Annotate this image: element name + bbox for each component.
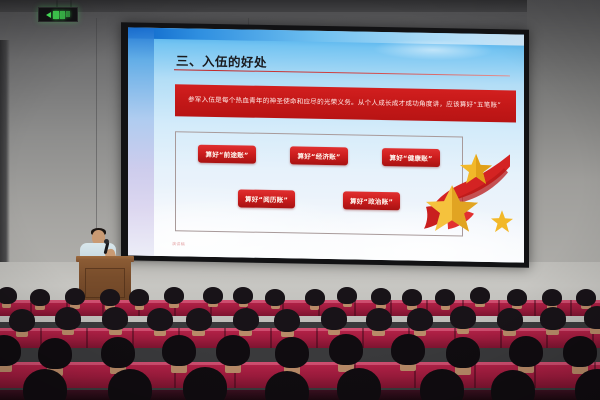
audience-head <box>233 287 253 304</box>
screen-glare <box>374 39 493 62</box>
title-underline <box>174 69 510 76</box>
exit-glyph-icon <box>66 11 70 17</box>
audience-head <box>470 287 490 304</box>
audience-head <box>101 337 135 368</box>
audience-head <box>233 308 259 331</box>
audience-head <box>147 308 173 331</box>
projection-screen: 三、入伍的好处 参军入伍是每个热血青年的神圣使命和应尽的光荣义务。从个人成长成才… <box>128 27 524 262</box>
audience-head <box>203 287 223 304</box>
audience-head <box>542 289 562 306</box>
chip-item: 算好“政治账” <box>343 191 400 210</box>
seat-divider <box>270 328 272 348</box>
chip-item: 算好“前途账” <box>198 145 255 164</box>
audience-head <box>446 337 480 368</box>
audience-head <box>321 307 347 330</box>
audience-head <box>366 308 392 331</box>
left-arrow-icon <box>46 12 51 18</box>
right-wall-panel <box>527 0 600 300</box>
audience-head <box>275 337 309 368</box>
audience-head <box>55 307 81 330</box>
audience-head <box>38 338 72 369</box>
audience-head <box>435 289 455 306</box>
audience-head <box>497 308 523 331</box>
audience-head <box>540 307 566 330</box>
audience-head <box>0 287 17 304</box>
red-ribbon-gold-stars-icon <box>414 147 518 241</box>
audience-head <box>584 306 600 329</box>
audience-head <box>164 287 184 304</box>
audience-head <box>274 309 300 332</box>
audience-head <box>391 334 425 365</box>
seat-divider <box>500 328 502 348</box>
audience-head <box>507 289 527 306</box>
seat-divider <box>534 300 536 316</box>
audience-head <box>407 308 433 331</box>
audience-head <box>509 336 543 367</box>
slide-watermark: 演讲稿 <box>172 241 185 247</box>
audience-head <box>305 289 325 306</box>
audience-head <box>129 289 149 306</box>
emergency-exit-sign: left <box>38 7 78 22</box>
presentation-slide: 三、入伍的好处 参军入伍是每个热血青年的神圣使命和应尽的光荣义务。从个人成长成才… <box>128 27 524 262</box>
auditorium-photo: left 三、入伍的好处 参军入伍是每个热血青年的神圣使命和应尽的光荣义务。从个… <box>0 0 600 400</box>
seat-divider <box>570 300 572 316</box>
wall-shadow-left <box>0 40 10 285</box>
audience-head <box>265 289 285 306</box>
banner-text: 参军入伍是每个热血青年的神圣使命和应尽的光荣义务。从个人成长成才成功角度讲，应该… <box>188 95 501 112</box>
audience-head <box>402 289 422 306</box>
audience-head <box>450 306 476 329</box>
audience-area <box>0 286 600 400</box>
exit-glyph-icon <box>53 11 59 19</box>
seat-divider <box>316 328 318 348</box>
slide-left-gradient <box>128 27 154 255</box>
audience-head <box>576 289 596 306</box>
audience-head <box>216 335 250 366</box>
audience-head <box>102 307 128 330</box>
chip-item: 算好“阅历账” <box>238 189 295 208</box>
exit-sign-glyphs <box>53 11 70 19</box>
audience-head <box>65 288 85 305</box>
audience-head <box>9 309 35 332</box>
audience-head <box>329 334 363 365</box>
ceiling-band <box>0 0 600 12</box>
audience-head <box>183 367 227 400</box>
audience-head <box>265 371 309 400</box>
audience-head <box>30 289 50 306</box>
audience-head <box>563 336 597 367</box>
exit-glyph-icon <box>60 11 65 19</box>
seat-divider <box>86 328 88 348</box>
audience-head <box>371 288 391 305</box>
audience-head <box>337 287 357 304</box>
slide-title: 三、入伍的好处 <box>176 50 267 71</box>
audience-head <box>100 289 120 306</box>
slide-red-banner: 参军入伍是每个热血青年的神圣使命和应尽的光荣义务。从个人成长成才成功角度讲，应该… <box>175 84 516 122</box>
chip-item: 算好“经济账” <box>290 146 347 165</box>
microphone-head <box>104 239 109 244</box>
seat-divider <box>474 362 476 388</box>
audience-head <box>186 308 212 331</box>
seat-divider <box>354 300 356 316</box>
audience-head <box>162 335 196 366</box>
